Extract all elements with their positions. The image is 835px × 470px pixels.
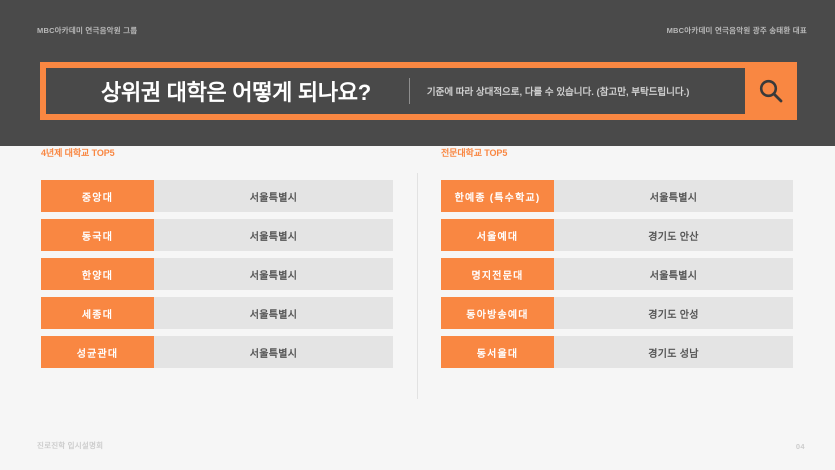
table-row[interactable]: 명지전문대 서울특별시 [441, 258, 793, 290]
university-name: 동국대 [41, 219, 154, 251]
university-location: 서울특별시 [554, 258, 793, 290]
search-button[interactable] [745, 62, 797, 120]
table-row[interactable]: 중앙대 서울특별시 [41, 180, 393, 212]
column-junior-college: 전문대학교 TOP5 한예종 (특수학교) 서울특별시 서울예대 경기도 안산 … [441, 146, 793, 375]
table-row[interactable]: 동서울대 경기도 성남 [441, 336, 793, 368]
search-field[interactable]: 상위권 대학은 어떻게 되나요? 기준에 따라 상대적으로, 다를 수 있습니다… [46, 68, 745, 114]
university-name: 동아방송예대 [441, 297, 554, 329]
university-location: 서울특별시 [154, 219, 393, 251]
university-name: 세종대 [41, 297, 154, 329]
page-title: 상위권 대학은 어떻게 되나요? [101, 75, 371, 107]
table-row[interactable]: 서울예대 경기도 안산 [441, 219, 793, 251]
university-location: 서울특별시 [554, 180, 793, 212]
university-location: 경기도 안산 [554, 219, 793, 251]
table-row[interactable]: 세종대 서울특별시 [41, 297, 393, 329]
slide: MBC아카데미 연극음악원 그룹 MBC아카데미 연극음악원 광주 송태환 대표… [0, 0, 835, 470]
university-location: 서울특별시 [154, 258, 393, 290]
title-divider [409, 78, 410, 104]
university-name: 한예종 (특수학교) [441, 180, 554, 212]
university-name: 명지전문대 [441, 258, 554, 290]
university-location: 서울특별시 [154, 297, 393, 329]
table-row[interactable]: 한예종 (특수학교) 서울특별시 [441, 180, 793, 212]
table-row[interactable]: 동국대 서울특별시 [41, 219, 393, 251]
page-number: 04 [796, 442, 805, 451]
rankings-area: 4년제 대학교 TOP5 중앙대 서울특별시 동국대 서울특별시 한양대 서울특… [0, 146, 835, 426]
university-name: 중앙대 [41, 180, 154, 212]
search-bar[interactable]: 상위권 대학은 어떻게 되나요? 기준에 따라 상대적으로, 다를 수 있습니다… [40, 62, 797, 120]
table-row[interactable]: 성균관대 서울특별시 [41, 336, 393, 368]
university-name: 성균관대 [41, 336, 154, 368]
table-row[interactable]: 한양대 서울특별시 [41, 258, 393, 290]
column-divider [417, 173, 418, 399]
column-title: 4년제 대학교 TOP5 [41, 146, 393, 159]
university-name: 동서울대 [441, 336, 554, 368]
university-location: 서울특별시 [154, 180, 393, 212]
university-location: 서울특별시 [154, 336, 393, 368]
university-location: 경기도 안성 [554, 297, 793, 329]
footer-label: 진로진학 입시설명회 [37, 440, 103, 451]
page-subtitle: 기준에 따라 상대적으로, 다를 수 있습니다. (참고만, 부탁드립니다.) [427, 84, 690, 98]
search-icon [758, 78, 784, 104]
university-name: 서울예대 [441, 219, 554, 251]
brand-eyebrow-left: MBC아카데미 연극음악원 그룹 [37, 25, 137, 36]
university-name: 한양대 [41, 258, 154, 290]
brand-eyebrow-right: MBC아카데미 연극음악원 광주 송태환 대표 [667, 25, 807, 36]
column-title: 전문대학교 TOP5 [441, 146, 793, 159]
university-location: 경기도 성남 [554, 336, 793, 368]
column-four-year: 4년제 대학교 TOP5 중앙대 서울특별시 동국대 서울특별시 한양대 서울특… [41, 146, 393, 375]
table-row[interactable]: 동아방송예대 경기도 안성 [441, 297, 793, 329]
